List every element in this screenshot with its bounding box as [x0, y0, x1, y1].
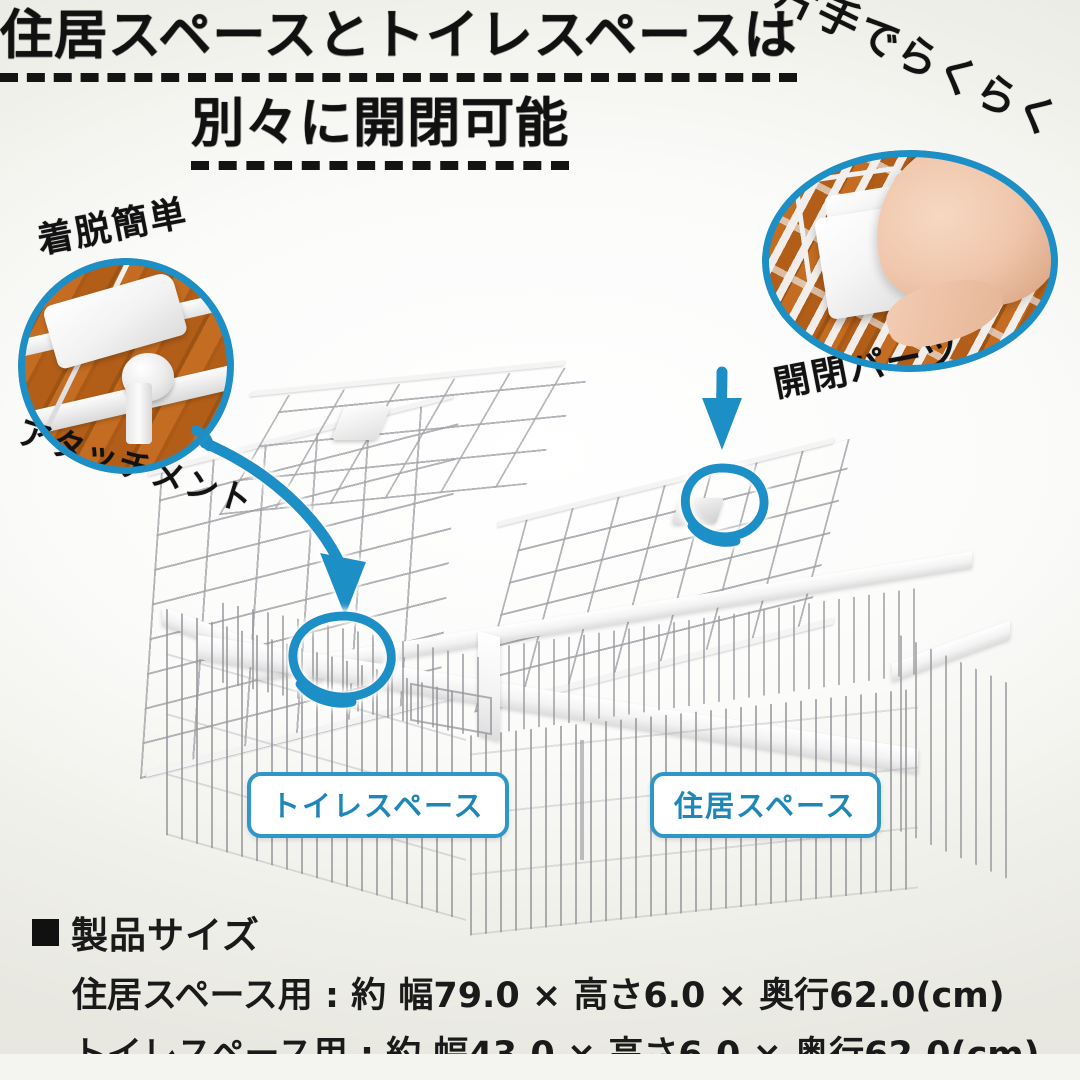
headline-underline-1 — [0, 73, 797, 82]
spec-block: 製品サイズ 住居スペース用 : 約 幅79.0 × 高さ6.0 × 奥行62.0… — [0, 905, 1080, 1077]
bullet-square-icon — [32, 919, 59, 946]
spec-heading-text: 製品サイズ — [71, 905, 260, 959]
infographic-page: 住居スペースとトイレスペースは 別々に開閉可能 — [0, 0, 1080, 1080]
headline-block: 住居スペースとトイレスペースは 別々に開閉可能 — [0, 8, 760, 170]
callout-right-photo — [762, 150, 1058, 372]
headline-line-1: 住居スペースとトイレスペースは — [0, 8, 797, 82]
headline-line-1-text: 住居スペースとトイレスペースは — [0, 5, 797, 66]
callout-left-top-label: 着脱簡単 — [32, 184, 191, 264]
headline-line-2: 別々に開閉可能 — [191, 96, 569, 170]
headline-underline-2 — [191, 161, 569, 170]
mesh-lid-left-far — [219, 365, 596, 515]
spec-heading: 製品サイズ — [32, 905, 1080, 959]
bottom-band — [0, 1054, 1080, 1080]
callout-circle-opening-part[interactable] — [762, 150, 1058, 372]
badge-toilet-space: トイレスペース — [247, 772, 509, 838]
latch-part-right — [672, 498, 724, 524]
badge-living-space: 住居スペース — [650, 772, 881, 838]
callout-right-top-label: 片手でらくらく — [768, 0, 1072, 149]
headline-line-2-text: 別々に開閉可能 — [191, 93, 569, 154]
cage-door-latch-b — [580, 740, 584, 860]
spec-row-living: 住居スペース用 : 約 幅79.0 × 高さ6.0 × 奥行62.0(cm) — [72, 967, 1080, 1018]
attachment-stem — [126, 383, 152, 443]
